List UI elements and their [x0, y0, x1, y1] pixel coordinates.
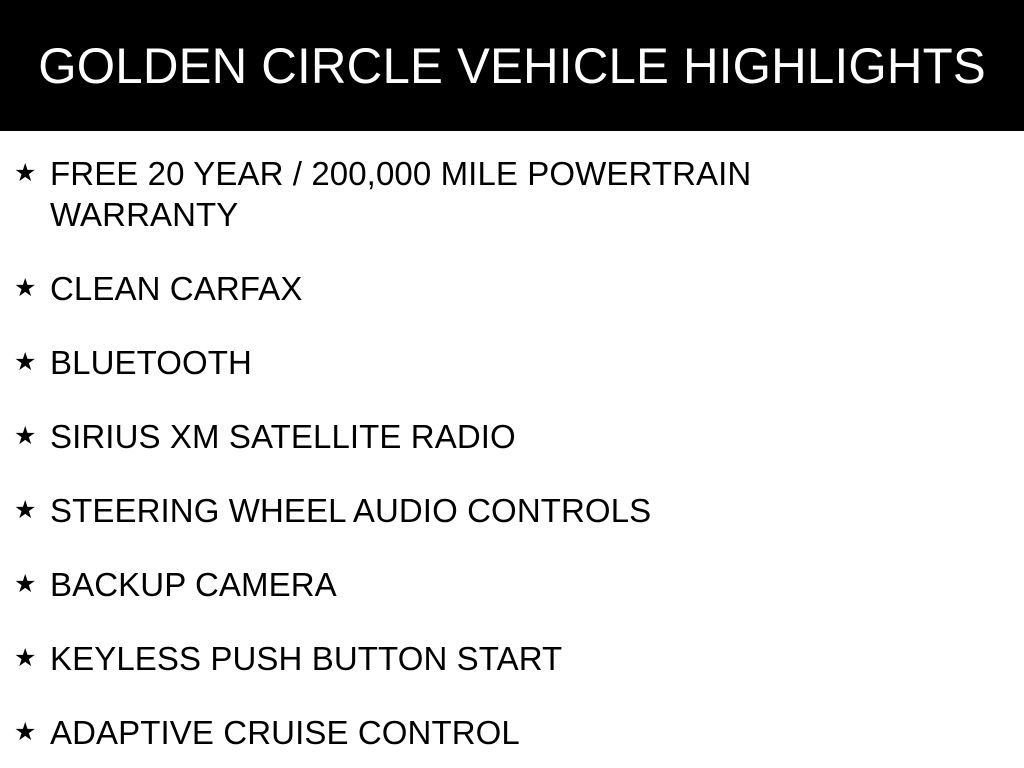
list-item-label: SIRIUS XM SATELLITE RADIO — [50, 394, 1010, 457]
page-header-banner: GOLDEN CIRCLE VEHICLE HIGHLIGHTS — [0, 0, 1024, 131]
list-item: ★ FREE 20 YEAR / 200,000 MILE POWERTRAIN… — [0, 131, 1024, 246]
list-item-label: FREE 20 YEAR / 200,000 MILE POWERTRAIN W… — [50, 131, 1010, 235]
star-bullet-icon: ★ — [14, 320, 50, 383]
list-item: ★ BLUETOOTH — [0, 320, 1024, 394]
list-item: ★ CLEAN CARFAX — [0, 246, 1024, 320]
star-bullet-icon: ★ — [14, 131, 50, 194]
list-item-label: BLUETOOTH — [50, 320, 1010, 383]
vehicle-highlights-page: GOLDEN CIRCLE VEHICLE HIGHLIGHTS ★ FREE … — [0, 0, 1024, 768]
star-bullet-icon: ★ — [14, 690, 50, 753]
vehicle-highlights-list: ★ FREE 20 YEAR / 200,000 MILE POWERTRAIN… — [0, 131, 1024, 764]
list-item: ★ KEYLESS PUSH BUTTON START — [0, 616, 1024, 690]
star-bullet-icon: ★ — [14, 246, 50, 309]
page-title: GOLDEN CIRCLE VEHICLE HIGHLIGHTS — [38, 41, 986, 91]
star-bullet-icon: ★ — [14, 468, 50, 531]
list-item-label: ADAPTIVE CRUISE CONTROL — [50, 690, 1010, 753]
list-item-label: KEYLESS PUSH BUTTON START — [50, 616, 1010, 679]
list-item: ★ BACKUP CAMERA — [0, 542, 1024, 616]
list-item-label: CLEAN CARFAX — [50, 246, 1010, 309]
list-item: ★ STEERING WHEEL AUDIO CONTROLS — [0, 468, 1024, 542]
list-item-label: STEERING WHEEL AUDIO CONTROLS — [50, 468, 1010, 531]
star-bullet-icon: ★ — [14, 616, 50, 679]
star-bullet-icon: ★ — [14, 394, 50, 457]
star-bullet-icon: ★ — [14, 542, 50, 605]
list-item-label: BACKUP CAMERA — [50, 542, 1010, 605]
list-item: ★ SIRIUS XM SATELLITE RADIO — [0, 394, 1024, 468]
list-item: ★ ADAPTIVE CRUISE CONTROL — [0, 690, 1024, 764]
